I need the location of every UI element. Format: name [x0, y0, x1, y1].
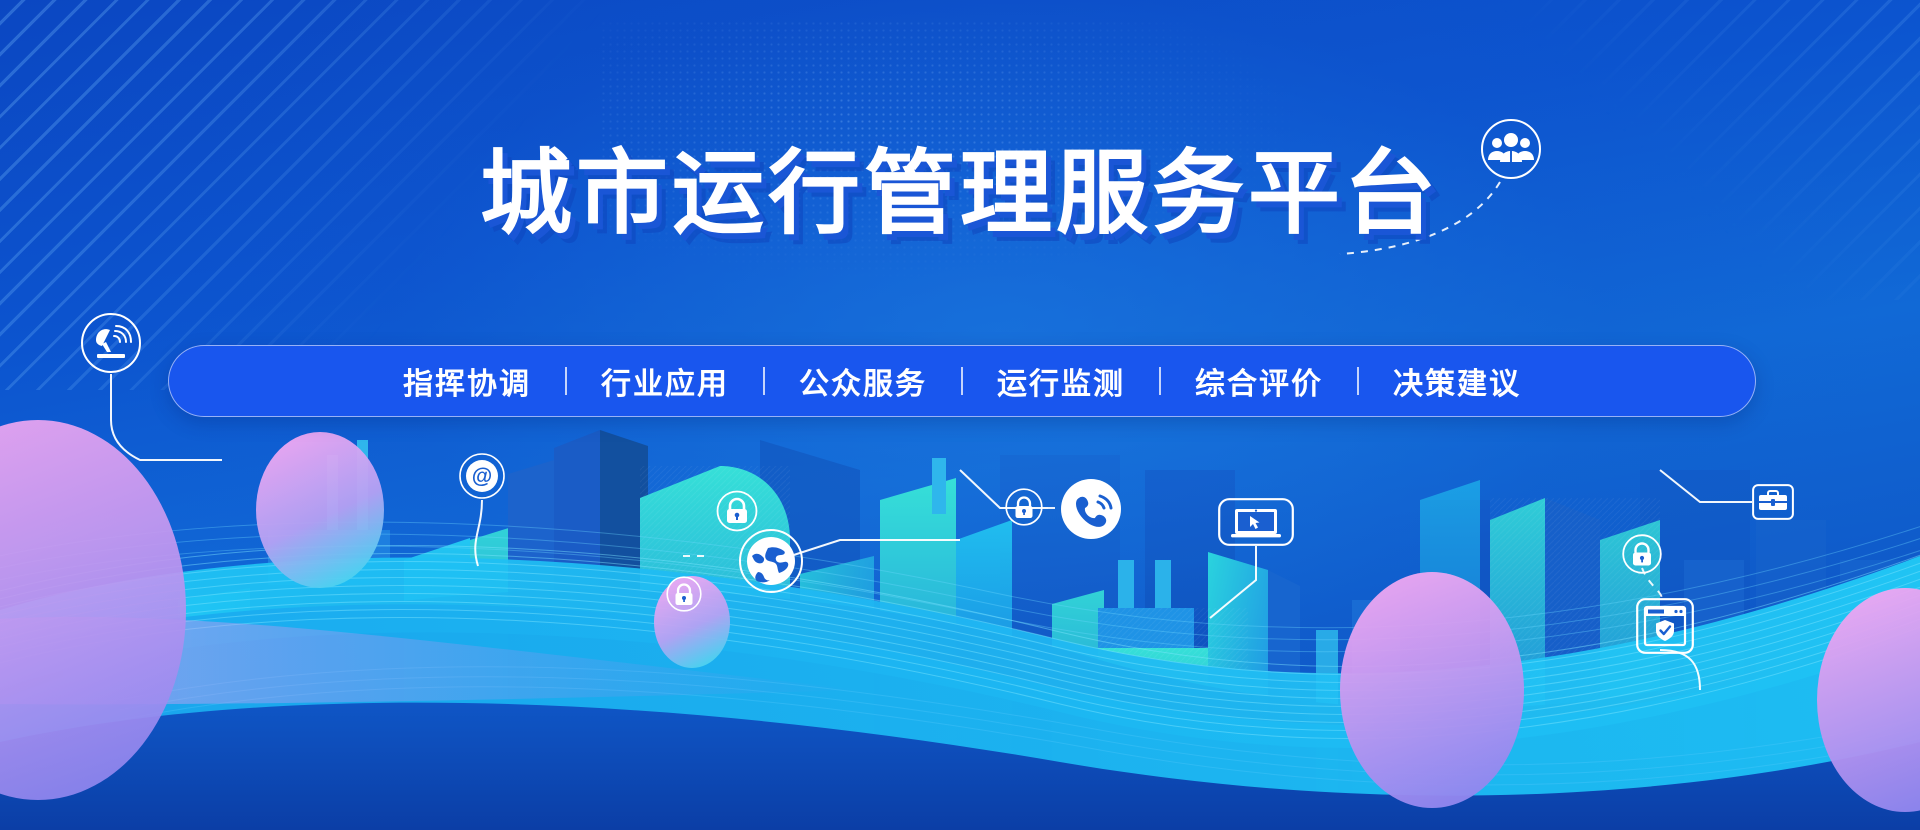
- globe-icon: [738, 528, 804, 594]
- page-title: 城市运行管理服务平台: [480, 148, 1440, 240]
- nav-item-operation-monitoring[interactable]: 运行监测: [963, 359, 1159, 403]
- hero-banner: 城市运行管理服务平台 指挥协调行业应用公众服务运行监测综合评价决策建议: [0, 0, 1920, 830]
- laptop-screen-icon: [1218, 498, 1294, 546]
- nav-item-comprehensive-evaluation[interactable]: 综合评价: [1161, 359, 1357, 403]
- nav-item-industry-application[interactable]: 行业应用: [567, 359, 763, 403]
- nav-item-command-coordination[interactable]: 指挥协调: [369, 359, 565, 403]
- svg-text:@: @: [472, 465, 492, 488]
- at-sign-icon: @: [458, 452, 506, 500]
- nav-item-decision-suggestion[interactable]: 决策建议: [1359, 359, 1555, 403]
- sphere-decoration: [256, 432, 384, 588]
- shield-window-icon: [1636, 598, 1694, 654]
- main-nav[interactable]: 指挥协调行业应用公众服务运行监测综合评价决策建议: [168, 345, 1756, 417]
- lock-icon-4: [1622, 534, 1662, 574]
- page-title-wrap: 城市运行管理服务平台: [0, 148, 1920, 240]
- sphere-decoration: [1340, 572, 1524, 808]
- satellite-dish-icon: [80, 312, 142, 374]
- lock-icon-1: [716, 490, 758, 532]
- phone-call-icon: [1060, 478, 1122, 540]
- lock-icon-2: [666, 576, 702, 612]
- lock-icon-3: [1005, 488, 1043, 526]
- nav-item-public-service[interactable]: 公众服务: [765, 359, 961, 403]
- people-group-icon: [1480, 118, 1542, 180]
- briefcase-icon: [1752, 484, 1794, 520]
